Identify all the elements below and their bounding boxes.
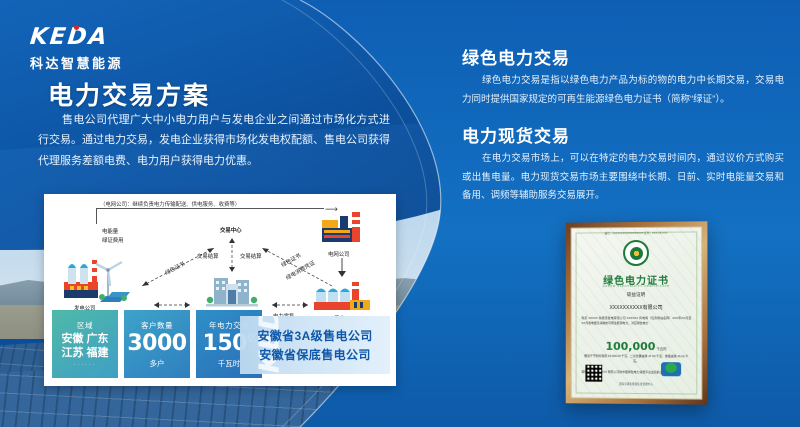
certificate-paragraph-1: 购买 XXXXX 新能源发电有限公司 XXXXXX 风电场（包含场站名称）XXX… [581,316,691,326]
grid-to-user-arrow [336,258,348,278]
certificate-amount-unit: 千瓦时 [655,347,666,351]
stat-region: 区域 安徽 广东 江苏 福建 ······ [52,310,118,378]
region-item: 广东 [87,333,109,345]
logo-wordmark: KEDA [30,26,123,49]
section-heading-spot-trade: 电力现货交易 [462,122,570,147]
green-certificate-frame: 编号：XXXXXXXXXXXXXXXXXX 证书：XXX-XX-XXX 绿色电力… [566,221,708,405]
page-intro-text: 售电公司代理广大中小电力用户与发电企业之间通过市场化方式进行交易。通过电力交易，… [38,110,390,171]
logo-word-text: KEDA [29,26,110,49]
label-energy-amount: 电能量 [102,227,118,235]
stat-customer-value: 3000 [127,333,186,355]
label-settlement-left: 交易结算 [197,252,219,260]
region-item: 福建 [87,347,109,359]
region-item: 安徽 [61,333,83,345]
badge-watermark: KEDA [252,316,285,373]
certificate-org: XXXXXXXXXX有限公司 [572,304,702,311]
logo-tagline: 科达智慧能源 [30,53,123,72]
stat-region-dots: ······ [74,362,96,368]
stat-region-caption: 区域 [77,320,93,331]
region-item: 江苏 [61,347,83,359]
badge-line-1: 安徽省3A级售电公司 [257,327,372,344]
stats-row: 区域 安徽 广东 江苏 福建 ······ 客户数量 3000 多户 年电力交易 [52,310,262,378]
stat-customer-unit: 多户 [150,358,165,369]
settlement-vertical-arrow [226,234,238,276]
retail-arrow [266,300,314,310]
wholesale-arrow [148,300,196,310]
user-icon [312,278,372,312]
section-body-spot-trade: 在电力交易市场上，可以在特定的电力交易时间内，通过议价方式购买或出售电量。电力现… [462,150,784,206]
seal-inner-icon [630,246,643,259]
badge-line-2: 安徽省保底售电公司 [259,346,371,363]
grid-bracket [96,208,324,224]
brand-logo: KEDA 科达智慧能源 [30,26,123,72]
section-heading-green-trade: 绿色电力交易 [462,44,570,69]
certificate-subtitle: GREEN ELECTRICITY CERTIFICATE [572,284,702,288]
certificate-platform-logo [661,362,681,376]
node-label-grid-company: 电网公司 [328,250,350,258]
retail-company-icon [206,274,258,308]
stat-annual-unit: 千瓦时 [218,358,241,369]
slide-canvas: KEDA 科达智慧能源 电力交易方案 售电公司代理广大中小电力用户与发电企业之间… [0,0,800,427]
stat-region-values: 安徽 广东 江苏 福建 [61,333,108,361]
certificate-qr-code [585,365,602,382]
certificate-seal-icon [623,240,649,266]
grid-company-note: （电网公司：继续负责电力传输配送、供电服务、收费等） [100,200,240,208]
label-green-cert-fee: 绿证费用 [102,236,124,244]
section-body-green-trade: 绿色电力交易是指以绿色电力产品为标的物的电力中长期交易，交易电力同时提供国家规定… [462,72,784,109]
page-title: 电力交易方案 [48,76,210,112]
stat-customer-caption: 客户数量 [141,320,173,331]
qualification-badge: KEDA 安徽省3A级售电公司 安徽省保底售电公司 [240,316,390,374]
logo-red-dot-icon [74,25,79,30]
certificate-kind: 碳益证明 [572,292,702,298]
node-label-trade-center: 交易中心 [220,226,242,234]
generator-icon [62,256,136,302]
stat-customer-count: 客户数量 3000 多户 [124,310,190,378]
grid-company-icon [316,208,372,248]
diagram-card: （电网公司：继续负责电力传输配送、供电服务、收费等） ⟶ [44,194,396,386]
green-certificate: 编号：XXXXXXXXXXXXXXXXXX 证书：XXX-XX-XXX 绿色电力… [571,226,703,399]
market-flow-diagram: （电网公司：继续负责电力传输配送、供电服务、收费等） ⟶ [44,194,396,386]
certificate-amount: 100,000 千瓦时 [572,340,702,354]
